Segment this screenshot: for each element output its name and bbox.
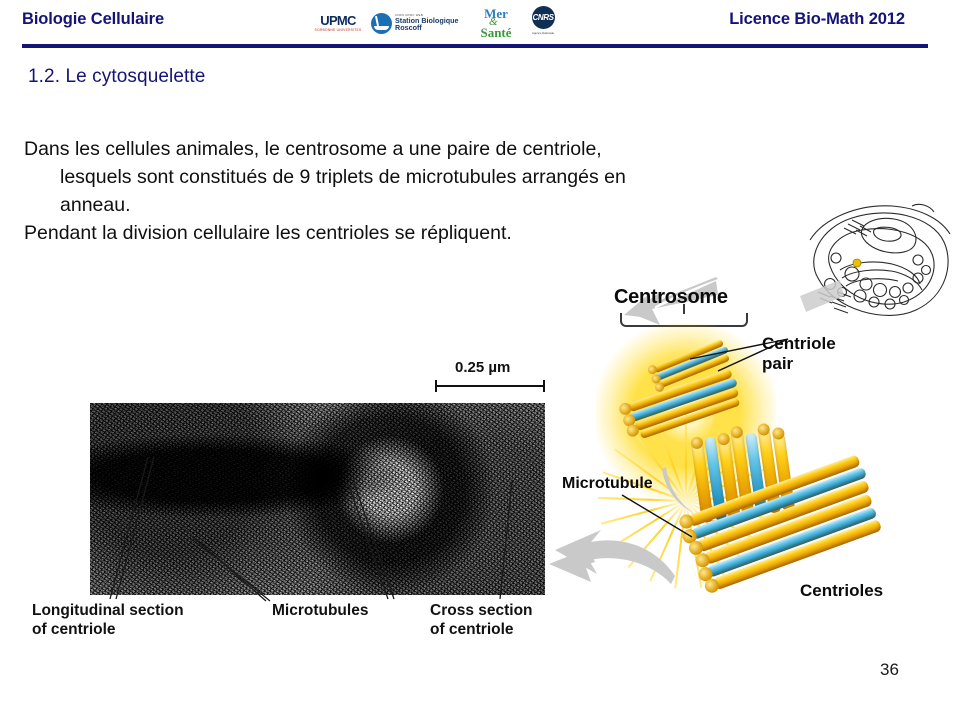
header-logo-strip: UPMC SORBONNE UNIVERSITES CNRS UPMC WEB … <box>310 3 570 43</box>
caption-cross-line2: of centriole <box>430 620 533 639</box>
caption-longitudinal-section: Longitudinal section of centriole <box>32 601 184 639</box>
caption-cross-section: Cross section of centriole <box>430 601 533 639</box>
upmc-logo-subtext: SORBONNE UNIVERSITES <box>315 29 362 32</box>
cell-centrosome-highlight-icon <box>853 259 861 267</box>
label-centrosome: Centrosome <box>614 287 728 307</box>
cnrs-logo: CNRS Agence Nationale <box>523 6 563 40</box>
centrosome-figure: Centrosome <box>0 195 960 665</box>
upmc-logo: UPMC SORBONNE UNIVERSITES <box>310 10 366 36</box>
body-line-2: lesquels sont constitués de 9 triplets d… <box>24 163 874 191</box>
roscoff-logo-line2: Roscoff <box>395 24 458 32</box>
mer-et-sante-logo: Mer & Santé <box>474 6 518 40</box>
caption-longitudinal-line2: of centriole <box>32 620 184 639</box>
arrow-centrioles-to-micrograph-icon <box>545 530 680 596</box>
caption-longitudinal-line1: Longitudinal section <box>32 601 184 620</box>
roscoff-logo-text: CNRS UPMC WEB Station Biologique Roscoff <box>395 14 458 32</box>
label-centriole-pair-line2: pair <box>762 354 836 374</box>
page-number: 36 <box>880 660 899 680</box>
caption-microtubules: Microtubules <box>272 601 368 620</box>
cnrs-logo-disc: CNRS <box>532 6 555 29</box>
scalebar <box>435 380 545 390</box>
header-right-title: Licence Bio-Math 2012 <box>729 10 905 29</box>
body-line-1: Dans les cellules animales, le centrosom… <box>24 135 874 163</box>
header-left-title: Biologie Cellulaire <box>22 10 164 29</box>
caption-microtubules-line1: Microtubules <box>272 601 368 620</box>
station-biologique-roscoff-logo: CNRS UPMC WEB Station Biologique Roscoff <box>371 13 469 34</box>
label-centrioles: Centrioles <box>800 581 883 601</box>
animal-cell-line-drawing-icon <box>800 200 955 330</box>
upmc-logo-wordmark: UPMC <box>320 14 355 27</box>
label-centriole-pair: Centriole pair <box>762 334 836 374</box>
header-rule <box>22 44 928 48</box>
scalebar-label: 0.25 µm <box>455 359 510 376</box>
label-microtubule: Microtubule <box>562 474 653 494</box>
centrioles-cluster <box>690 430 940 595</box>
mer-et-sante-ampersand: & <box>489 17 498 28</box>
caption-cross-line1: Cross section <box>430 601 533 620</box>
slide-header: Biologie Cellulaire Licence Bio-Math 201… <box>0 0 960 46</box>
label-centriole-pair-line1: Centriole <box>762 334 836 354</box>
slide-canvas: Biologie Cellulaire Licence Bio-Math 201… <box>0 0 960 720</box>
micrograph-leader-lines <box>88 453 548 603</box>
page-title: 1.2. Le cytosquelette <box>28 66 205 88</box>
roscoff-boat-icon <box>371 13 392 34</box>
cnrs-logo-subtext: Agence Nationale <box>532 31 554 35</box>
